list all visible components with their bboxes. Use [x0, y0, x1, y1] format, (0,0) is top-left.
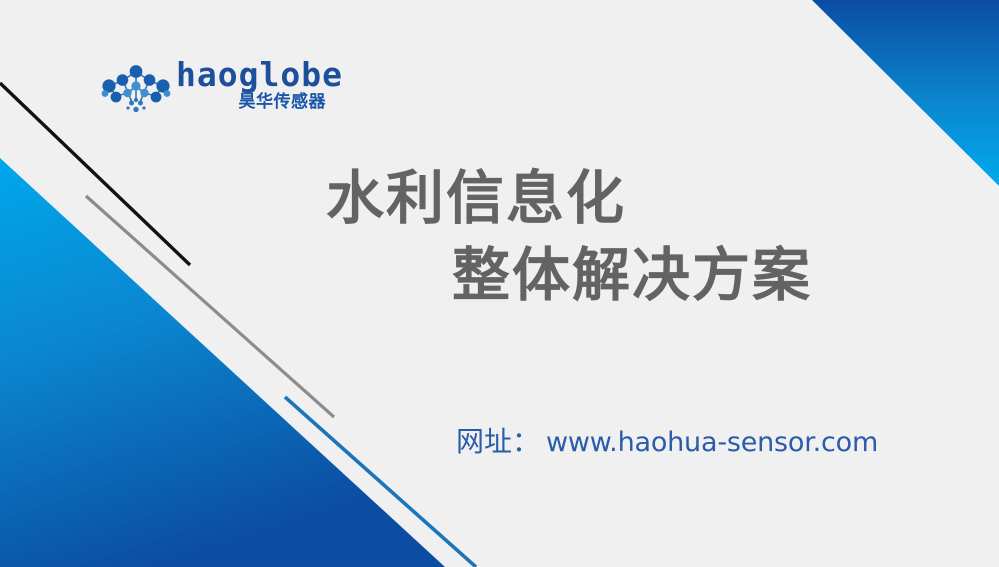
molecule-network-logo-icon: [98, 60, 174, 116]
title-line-1: 水利信息化: [322, 160, 882, 237]
page-title: 水利信息化 整体解决方案: [322, 160, 882, 313]
company-logo: haoglobe 昊华传感器: [98, 58, 328, 122]
top-right-blue-triangle: [812, 0, 999, 186]
logo-wordmark: haoglobe 昊华传感器: [176, 58, 326, 120]
website-label: 网址：: [456, 420, 540, 460]
website-url[interactable]: www.haohua-sensor.com: [546, 427, 878, 458]
logo-wordmark-text: haoglobe: [176, 58, 343, 91]
website-line: 网址： www.haohua-sensor.com: [456, 420, 878, 460]
title-line-2: 整体解决方案: [322, 237, 882, 314]
logo-subtitle-text: 昊华传感器: [239, 94, 327, 111]
presentation-title-slide: haoglobe 昊华传感器 水利信息化 整体解决方案 网址： www.haoh…: [0, 0, 999, 567]
